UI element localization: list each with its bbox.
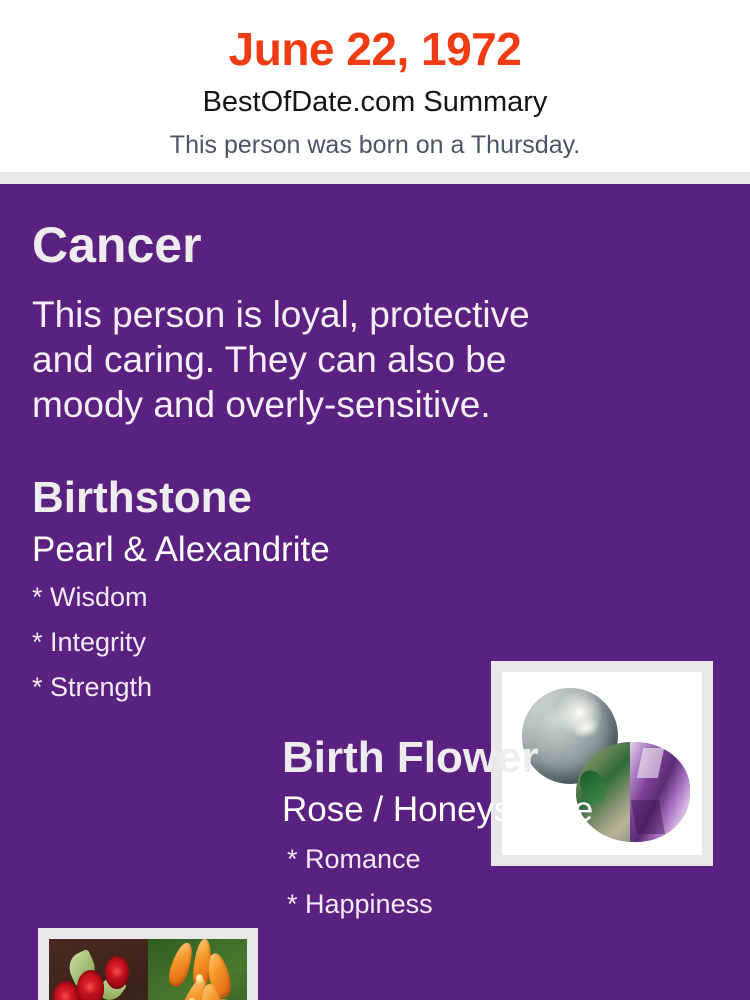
birth-flower-image-frame bbox=[38, 928, 258, 1000]
birthstone-section: Birthstone Pearl & Alexandrite * Wisdom … bbox=[32, 476, 462, 719]
zodiac-section: Cancer This person is loyal, protective … bbox=[32, 220, 672, 427]
birthstone-traits: * Wisdom * Integrity * Strength bbox=[32, 584, 462, 701]
list-item: * Strength bbox=[32, 674, 462, 701]
birth-flower-title: Birth Flower bbox=[282, 736, 722, 780]
list-item: * Wisdom bbox=[32, 584, 462, 611]
header-divider bbox=[0, 172, 750, 184]
content-area: Cancer This person is loyal, protective … bbox=[0, 184, 750, 1000]
zodiac-name: Cancer bbox=[32, 220, 672, 270]
roses-and-honeysuckle-icon bbox=[49, 939, 247, 1000]
birthstone-title: Birthstone bbox=[32, 476, 462, 520]
birth-flower-image bbox=[49, 939, 247, 1000]
roses-photo-half bbox=[49, 939, 148, 1000]
birthstone-value: Pearl & Alexandrite bbox=[32, 532, 462, 567]
date-summary-card: June 22, 1972 BestOfDate.com Summary Thi… bbox=[0, 0, 750, 1000]
born-day-text: This person was born on a Thursday. bbox=[0, 117, 750, 158]
site-summary-label: BestOfDate.com Summary bbox=[0, 72, 750, 117]
page-title: June 22, 1972 bbox=[0, 0, 750, 72]
header: June 22, 1972 BestOfDate.com Summary Thi… bbox=[0, 0, 750, 172]
honeysuckle-photo-half bbox=[148, 939, 247, 1000]
birth-flower-section: Birth Flower Rose / Honeysuckle * Romanc… bbox=[282, 736, 722, 936]
list-item: * Happiness bbox=[287, 891, 722, 918]
birth-flower-traits: * Romance * Happiness bbox=[287, 846, 722, 918]
list-item: * Integrity bbox=[32, 629, 462, 656]
zodiac-description: This person is loyal, protective and car… bbox=[32, 292, 672, 427]
birth-flower-value: Rose / Honeysuckle bbox=[282, 792, 722, 827]
list-item: * Romance bbox=[287, 846, 722, 873]
